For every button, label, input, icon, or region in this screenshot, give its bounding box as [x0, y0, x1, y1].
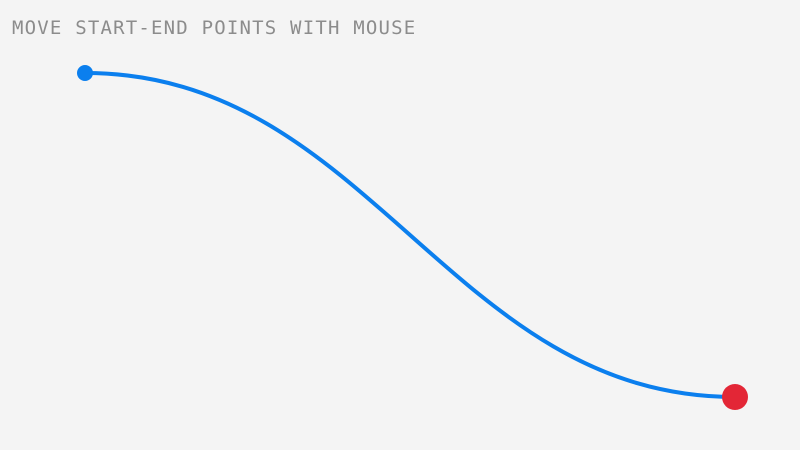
- curve-canvas[interactable]: [0, 0, 800, 450]
- bezier-curve-path: [85, 73, 735, 397]
- end-point-handle[interactable]: [722, 384, 748, 410]
- start-point-handle[interactable]: [77, 65, 93, 81]
- bezier-editor-app: MOVE START-END POINTS WITH MOUSE: [0, 0, 800, 450]
